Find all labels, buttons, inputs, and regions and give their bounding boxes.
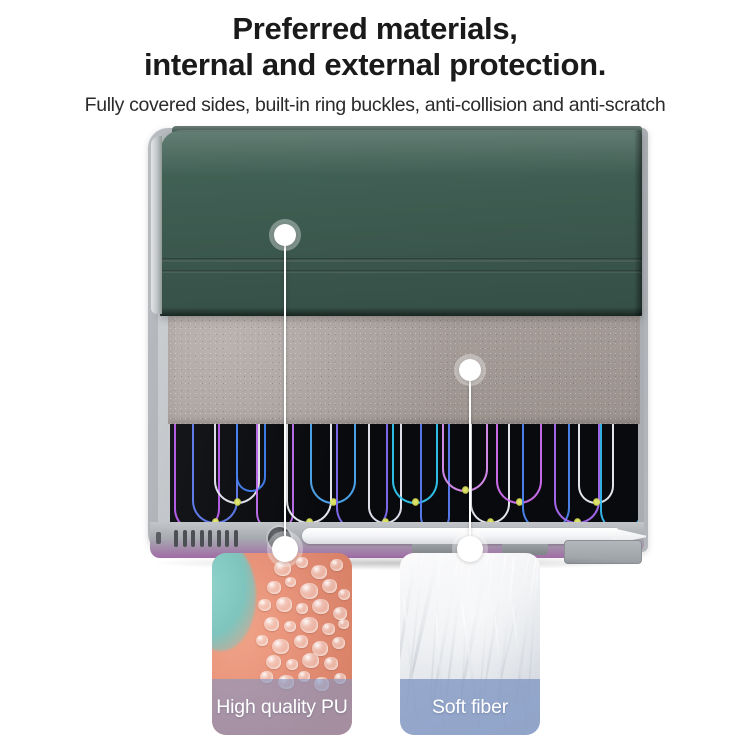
page-title: Preferred materials, internal and extern…	[0, 11, 750, 83]
product-feature-page: Preferred materials, internal and extern…	[0, 0, 750, 750]
high-quality-pu-callout-dot	[274, 224, 296, 246]
microfiber-lining	[168, 306, 640, 424]
swatch-pu-label: High quality PU	[212, 679, 352, 735]
headline-line-2: internal and external protection.	[0, 47, 750, 83]
product-photo: High quality PU	[0, 118, 750, 750]
cover-fold-crease-1	[160, 258, 642, 263]
speaker-grille	[174, 530, 260, 547]
swatch-fiber: Soft fiber	[400, 553, 540, 735]
tablet-screen	[170, 418, 638, 528]
cover-fold-crease-2	[160, 270, 642, 274]
lining-texture	[168, 306, 640, 424]
header: Preferred materials, internal and extern…	[0, 0, 750, 117]
side-port	[156, 532, 161, 544]
swatch-fiber-label-text: Soft fiber	[432, 696, 508, 719]
pu-folio-cover	[160, 130, 642, 316]
callout-line-pu	[284, 235, 286, 580]
swatch-pu: High quality PU	[212, 553, 352, 735]
cover-bottom-shadow	[160, 307, 642, 316]
cover-left-edge	[151, 136, 162, 314]
soft-fiber-callout-dot	[459, 359, 481, 381]
headline-line-1: Preferred materials,	[0, 11, 750, 47]
swatch-fiber-label: Soft fiber	[400, 679, 540, 735]
cover-highlight	[160, 130, 642, 176]
swatch-pu-label-text: High quality PU	[216, 696, 347, 719]
swatch-fiber-dot	[457, 536, 483, 562]
page-subtitle: Fully covered sides, built-in ring buckl…	[0, 94, 750, 117]
swatch-pu-dot	[272, 536, 298, 562]
cover-right-edge	[634, 130, 642, 316]
